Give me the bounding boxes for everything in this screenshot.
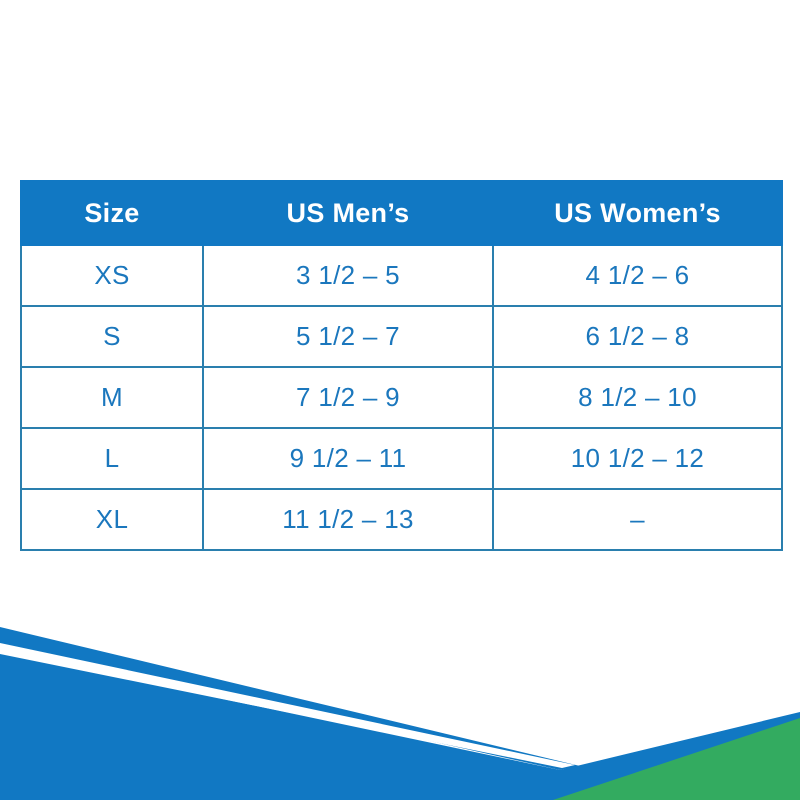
column-header-us-mens: US Men’s [203, 181, 493, 245]
size-chart-table: Size US Men’s US Women’s XS 3 1/2 – 5 4 … [20, 180, 783, 551]
cell-us-womens: – [493, 489, 782, 550]
cell-us-mens: 7 1/2 – 9 [203, 367, 493, 428]
table-row: L 9 1/2 – 11 10 1/2 – 12 [21, 428, 782, 489]
table-row: S 5 1/2 – 7 6 1/2 – 8 [21, 306, 782, 367]
bottom-decoration-banner [0, 600, 800, 800]
table-header: Size US Men’s US Women’s [21, 181, 782, 245]
cell-us-womens: 8 1/2 – 10 [493, 367, 782, 428]
cell-size: L [21, 428, 203, 489]
column-header-us-womens: US Women’s [493, 181, 782, 245]
table-row: M 7 1/2 – 9 8 1/2 – 10 [21, 367, 782, 428]
cell-us-mens: 11 1/2 – 13 [203, 489, 493, 550]
table-header-row: Size US Men’s US Women’s [21, 181, 782, 245]
column-header-size: Size [21, 181, 203, 245]
cell-size: M [21, 367, 203, 428]
cell-us-womens: 4 1/2 – 6 [493, 245, 782, 306]
cell-size: XL [21, 489, 203, 550]
cell-size: S [21, 306, 203, 367]
cell-us-mens: 3 1/2 – 5 [203, 245, 493, 306]
cell-us-womens: 6 1/2 – 8 [493, 306, 782, 367]
table-body: XS 3 1/2 – 5 4 1/2 – 6 S 5 1/2 – 7 6 1/2… [21, 245, 782, 550]
size-chart-page: Size US Men’s US Women’s XS 3 1/2 – 5 4 … [0, 0, 800, 800]
cell-us-mens: 9 1/2 – 11 [203, 428, 493, 489]
table-row: XL 11 1/2 – 13 – [21, 489, 782, 550]
table-row: XS 3 1/2 – 5 4 1/2 – 6 [21, 245, 782, 306]
cell-us-mens: 5 1/2 – 7 [203, 306, 493, 367]
cell-us-womens: 10 1/2 – 12 [493, 428, 782, 489]
cell-size: XS [21, 245, 203, 306]
